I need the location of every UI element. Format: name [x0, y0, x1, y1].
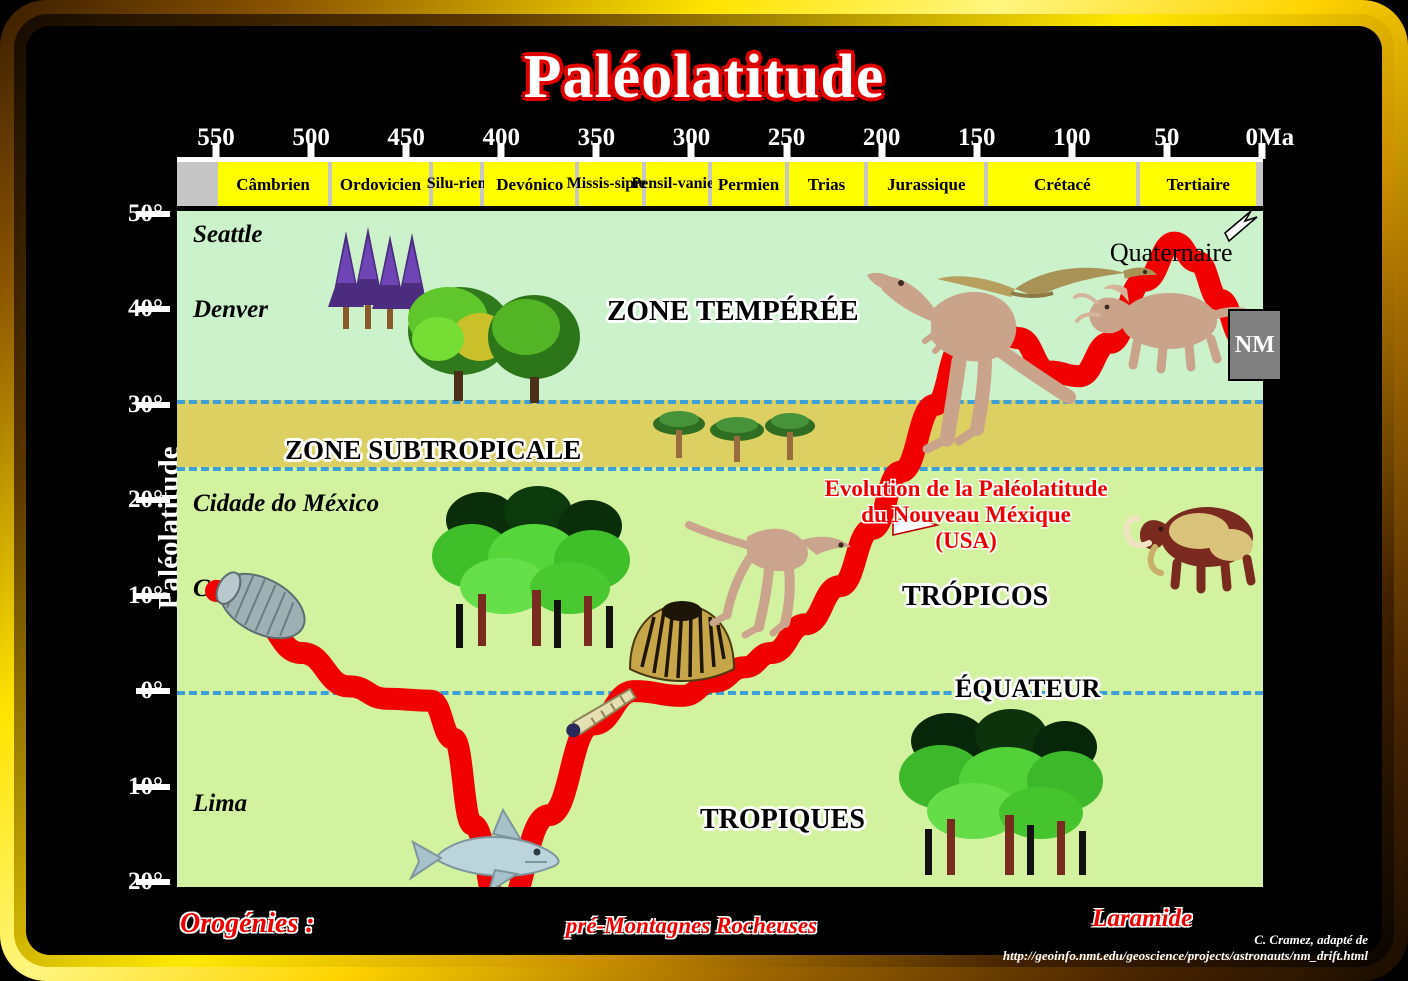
curve-callout: Evolution de la Paléolatitude du Nouveau…: [825, 476, 1108, 553]
period-box-10[interactable]: Tertiaire: [1140, 162, 1256, 206]
plot-area: ZONE TEMPÉRÉE ZONE SUBTROPICALE TRÓPICOS…: [177, 211, 1263, 887]
mammoth-icon: [1127, 507, 1253, 589]
period-box-8[interactable]: Jurassique: [868, 162, 984, 206]
period-label: Jurassique: [887, 176, 965, 193]
trilobite-fossil-icon: [207, 560, 315, 652]
paleolatitude-curve: [216, 243, 1258, 887]
period-label: Trias: [808, 176, 845, 193]
orogenies-title: Orogénies :: [180, 908, 315, 940]
rainforest-icon-left: [432, 486, 630, 648]
callout-line-3: (USA): [825, 528, 1108, 554]
y-axis-label-7: 20°: [128, 868, 163, 896]
period-box-0[interactable]: Câmbrien: [218, 162, 328, 206]
period-label: Missis-: [567, 176, 615, 192]
rainforest-icon-right: [899, 709, 1103, 875]
period-box-2[interactable]: Silu-rien: [433, 162, 480, 206]
new-mexico-badge: NM: [1228, 309, 1282, 381]
callout-line-1: Evolution de la Paléolatitude: [825, 476, 1108, 502]
scallop-shell-icon: [630, 601, 734, 681]
period-label: Devónico: [496, 176, 563, 193]
period-box-7[interactable]: Trias: [789, 162, 865, 206]
period-label: Silu-: [427, 176, 459, 192]
y-axis-label-0: 50°: [128, 200, 163, 228]
period-label: Ordovicien: [340, 176, 421, 193]
deciduous-trees-icon: [408, 287, 580, 403]
callout-line-2: du Nouveau Méxique: [825, 502, 1108, 528]
y-axis-label-2: 30°: [128, 391, 163, 419]
credit-author: C. Cramez, adapté de: [1254, 932, 1368, 948]
period-box-9[interactable]: Crétacé: [988, 162, 1136, 206]
period-box-1[interactable]: Ordovicien: [332, 162, 429, 206]
time-axis-label-0Ma: 0Ma: [1245, 124, 1294, 152]
paleolatitude-figure: Paléolatitude 55050045040035030025020015…: [0, 0, 1408, 981]
period-box-5[interactable]: Pensil-vanien: [646, 162, 709, 206]
credit-url[interactable]: http://geoinfo.nmt.edu/geoscience/projec…: [1003, 948, 1368, 964]
period-label: Pensil-: [631, 176, 677, 192]
orogeny-label-laramide: Laramide: [1092, 905, 1192, 933]
y-axis-label-6: 10°: [128, 773, 163, 801]
period-label: rien: [459, 176, 487, 192]
period-label: Tertiaire: [1167, 176, 1230, 193]
period-label: Permien: [718, 176, 779, 193]
y-axis-label-5: 0°: [141, 677, 164, 705]
savanna-trees-icon: [653, 411, 815, 462]
period-box-6[interactable]: Permien: [712, 162, 784, 206]
quaternaire-label: Quaternaire: [1110, 238, 1233, 268]
quaternaire-pointer-icon: [1225, 211, 1257, 241]
geologic-period-band: CâmbrienOrdovicienSilu-rienDevónicoMissi…: [177, 162, 1263, 206]
page-title: Paléolatitude: [0, 42, 1408, 113]
period-box-3[interactable]: Devónico: [484, 162, 575, 206]
period-label: Crétacé: [1034, 176, 1091, 193]
period-label: Câmbrien: [236, 176, 310, 193]
y-axis-label-1: 40°: [128, 295, 163, 323]
orogeny-label-pre-rockies: pré-Montagnes Rocheuses: [566, 913, 817, 939]
